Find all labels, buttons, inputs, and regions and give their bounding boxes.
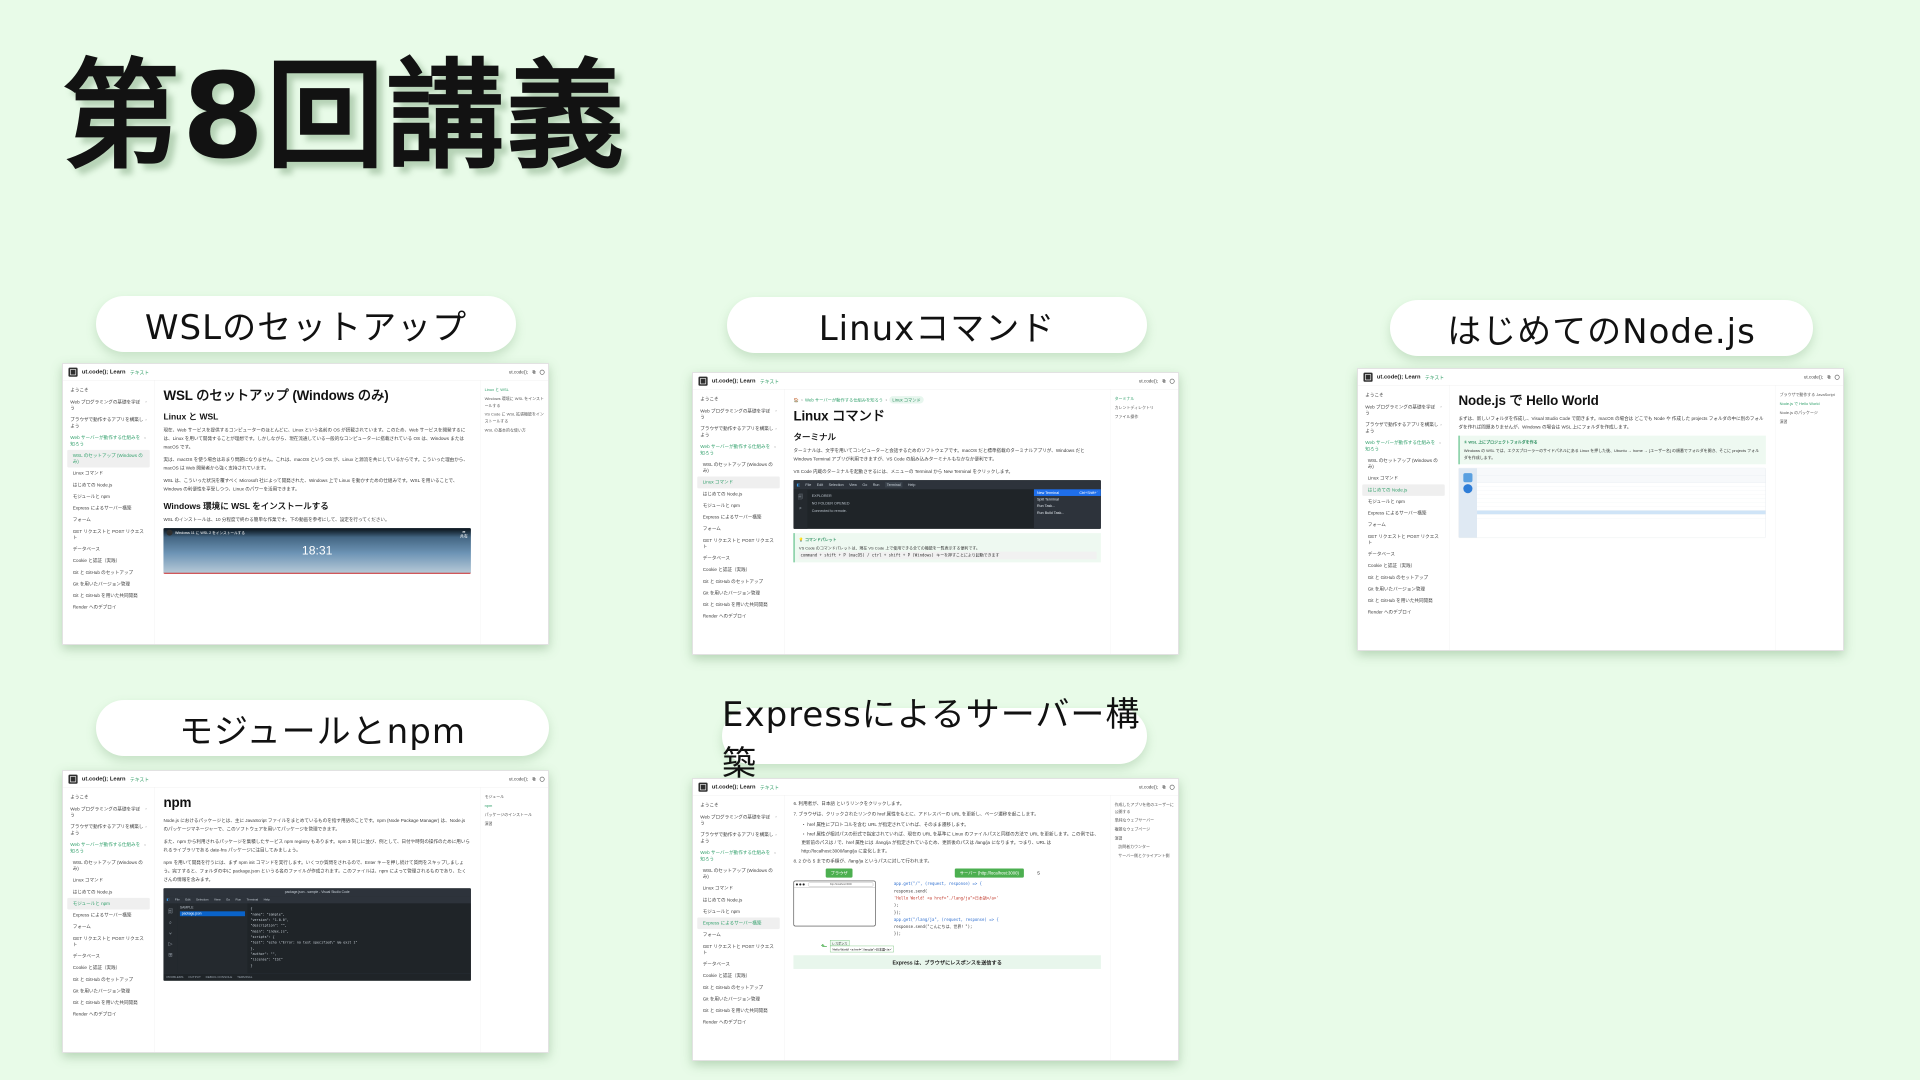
menu-item[interactable]: File — [175, 898, 180, 901]
toc-item[interactable]: Node.js のパッケージ — [1780, 410, 1841, 417]
browser-url-bar[interactable]: http://localhost:3000 — [808, 883, 873, 887]
sidebar-item-label: ブラウザで動作するアプリを構築しよう — [70, 824, 143, 836]
sidebar-item-10[interactable]: GET リクエストと POST リクエスト — [67, 526, 149, 544]
card-pill-nodejs[interactable]: はじめてのNode.js — [1390, 300, 1813, 356]
menu-item-terminal[interactable]: Terminal — [885, 482, 902, 487]
nav-link-text[interactable]: テキスト — [130, 775, 149, 782]
table-of-contents: モジュール npm パッケージのインストール 演習 — [480, 787, 549, 1053]
sidebar-item-3[interactable]: Web サーバーが動作する仕組みを知ろう⌄ — [67, 432, 149, 450]
chevron-right-icon: › — [775, 814, 776, 826]
sidebar-item-2[interactable]: ブラウザで動作するアプリを構築しよう› — [697, 829, 779, 847]
external-link-icon[interactable]: ⧉ — [532, 776, 535, 781]
sidebar-item-3[interactable]: Web サーバーが動作する仕組みを知ろう⌄ — [1362, 437, 1444, 455]
toc-item[interactable]: 複雑なウェブページ — [1115, 826, 1176, 833]
browser-window-mock: http://localhost:3000 — [793, 881, 875, 927]
menu-split-terminal[interactable]: Split Terminal — [1034, 496, 1101, 503]
sidebar-item-14[interactable]: Git を用いたバージョン管理 — [697, 588, 779, 600]
sidebar-item-12[interactable]: Cookie と認証（実践） — [697, 970, 779, 982]
external-link-icon[interactable]: ⧉ — [532, 369, 535, 374]
app-icon — [1463, 473, 1472, 482]
sidebar-item-label: Web プログラミングの基礎を学ぼう — [700, 408, 773, 420]
menu-item[interactable]: Help — [908, 483, 916, 487]
menu-item[interactable]: Go — [226, 898, 230, 901]
sidebar-item-0[interactable]: ようこそ — [67, 792, 149, 804]
vscode-window-title: package.json - sample - Visual Studio Co… — [163, 888, 470, 896]
sidebar-item-label: Web サーバーが動作する仕組みを知ろう — [700, 850, 771, 862]
doc-paragraph: 現在、Web サービスを提供するコンピューターのほとんどに、Linux という名… — [163, 426, 470, 451]
doc-content: Node.js で Hello World まずは、新しいフォルダを作成し、Vi… — [1449, 385, 1775, 651]
sidebar-item-16[interactable]: Render へのデプロイ — [697, 611, 779, 623]
sidebar-item-9[interactable]: フォーム — [67, 514, 149, 526]
chevron-right-icon: › — [145, 399, 146, 411]
code-line: app.get("/", (request, response) => { — [894, 881, 1101, 888]
video-embed[interactable]: Windows 11 に WSL 2 をインストールする ➦共有 18:31 — [163, 528, 470, 574]
chevron-right-icon: › — [145, 806, 146, 818]
sidebar-item-label: ようこそ — [700, 802, 718, 808]
doc-content: 6. 利用者が、日本語 というリンクをクリックします。 7. ブラウザは、クリッ… — [784, 795, 1110, 1061]
menu-new-terminal[interactable]: New TerminalCtrl+Shift+` — [1034, 489, 1101, 496]
doc-heading-2: Linux と WSL — [163, 410, 470, 422]
sidebar-item-8[interactable]: Express によるサーバー構築 — [67, 910, 149, 922]
toc-item[interactable]: パッケージのインストール — [485, 812, 546, 819]
terminal-menu-dropdown[interactable]: New TerminalCtrl+Shift+` Split Terminal … — [1034, 489, 1101, 529]
chevron-down-icon: ⌄ — [143, 842, 146, 854]
video-timestamp: 18:31 — [163, 544, 470, 558]
menu-item[interactable]: Selection — [196, 898, 209, 901]
top-right-label: ut.code(); — [509, 776, 528, 781]
sidebar-item-14[interactable]: Git を用いたバージョン管理 — [67, 579, 149, 591]
sidebar-item-label: Git と GitHub を用いた共同開発 — [73, 593, 138, 599]
chevron-down-icon: ⌄ — [143, 435, 146, 447]
sidebar-item-label: Express によるサーバー構築 — [703, 920, 762, 926]
top-right-label: ut.code(); — [1139, 378, 1158, 383]
thumbnail-card-wsl[interactable]: ut.code(); Learn テキスト ut.code(); ⧉ ようこそ … — [62, 363, 549, 645]
files-icon[interactable]: 🗐 — [163, 906, 177, 917]
sun-icon[interactable] — [1170, 785, 1175, 790]
sidebar-item-4[interactable]: WSL のセットアップ (Windows のみ) — [67, 450, 149, 468]
diagram-step-number: 5 — [1037, 871, 1040, 876]
sidebar-item-7[interactable]: モジュールと npm — [67, 898, 149, 910]
site-topbar: ut.code(); Learn テキスト ut.code(); ⧉ — [63, 364, 549, 380]
site-topbar: ut.code(); Learn テキスト ut.code(); ⧉ — [693, 373, 1179, 389]
brand-name: ut.code(); Learn — [712, 784, 756, 791]
external-link-icon[interactable]: ⧉ — [1162, 784, 1165, 789]
sidebar-item-label: Express によるサーバー構築 — [73, 505, 132, 511]
toc-item[interactable]: VS Code に WSL 拡張機能をインストールする — [485, 411, 546, 424]
sidebar-item-7[interactable]: モジュールと npm — [67, 491, 149, 503]
thumbnail-card-express[interactable]: ut.code(); Learn テキスト ut.code(); ⧉ ようこそ … — [692, 778, 1179, 1061]
explorer-row[interactable] — [1477, 514, 1766, 518]
sidebar-item-11[interactable]: データベース — [697, 553, 779, 565]
toc-item[interactable]: カレントディレクトリ — [1115, 405, 1176, 412]
video-progress-bar[interactable] — [163, 573, 470, 574]
sidebar-item-6[interactable]: はじめての Node.js — [67, 886, 149, 898]
sidebar[interactable]: ようこそ Web プログラミングの基礎を学ぼう› ブラウザで動作するアプリを構築… — [63, 380, 154, 645]
sidebar-item-7[interactable]: モジュールと npm — [1362, 496, 1444, 508]
sidebar-item-12[interactable]: Cookie と認証（実践） — [1362, 560, 1444, 572]
sidebar-item-13[interactable]: Git と GitHub のセットアップ — [697, 576, 779, 588]
sidebar-item-16[interactable]: Render へのデプロイ — [697, 1017, 779, 1029]
panel-tab[interactable]: TERMINAL — [237, 976, 252, 979]
sidebar-item-label: はじめての Node.js — [1368, 487, 1408, 493]
menu-item[interactable]: File — [805, 483, 811, 487]
page-title: 第8回講義 — [62, 52, 626, 182]
sidebar-item-label: ようこそ — [70, 387, 88, 393]
sidebar-item-label: Git を用いたバージョン管理 — [73, 581, 130, 587]
sidebar-item-13[interactable]: Git と GitHub のセットアップ — [1362, 572, 1444, 584]
sidebar-item-9[interactable]: フォーム — [1362, 519, 1444, 531]
window-dot-icon — [803, 883, 805, 885]
sidebar-item-label: Render へのデプロイ — [73, 1012, 117, 1018]
doc-list-item: 6. 利用者が、日本語 というリンクをクリックします。 — [793, 800, 1100, 808]
sidebar-item-label: ようこそ — [700, 396, 718, 402]
video-channel-avatar — [166, 530, 172, 536]
sidebar-item-2[interactable]: ブラウザで動作するアプリを構築しよう› — [1362, 419, 1444, 437]
sidebar[interactable]: ようこそ Web プログラミングの基礎を学ぼう› ブラウザで動作するアプリを構築… — [1358, 385, 1449, 651]
panel-tab[interactable]: PROBLEMS — [166, 976, 183, 979]
sidebar-item-4[interactable]: WSL のセットアップ (Windows のみ) — [697, 459, 779, 477]
sidebar-item-label: Render へのデプロイ — [703, 614, 747, 620]
sidebar-item-10[interactable]: GET リクエストと POST リクエスト — [697, 535, 779, 553]
panel-tab[interactable]: DEBUG CONSOLE — [206, 976, 233, 979]
vscode-editor[interactable]: { "name": "sample", "version": "1.0.0", … — [247, 903, 470, 973]
chevron-right-icon: › — [775, 408, 776, 420]
chevron-down-icon: ⌄ — [773, 444, 776, 456]
sidebar-item-12[interactable]: Cookie と認証（実践） — [67, 962, 149, 974]
doc-list-item: ・ href 属性にプロトコルを含む URL が指定されていれば、そのまま遷移し… — [801, 820, 1101, 828]
toc-item[interactable]: 演習 — [485, 820, 546, 827]
sidebar-item-0[interactable]: ようこそ — [1362, 390, 1444, 402]
table-of-contents: ブラウザで動作する JavaScript Node.js で Hello Wor… — [1775, 385, 1844, 651]
nav-link-text[interactable]: テキスト — [760, 783, 779, 790]
sidebar-item-4[interactable]: WSL のセットアップ (Windows のみ) — [1362, 455, 1444, 473]
sidebar-item-label: Git と GitHub のセットアップ — [73, 570, 133, 576]
toc-item[interactable]: 単純なウェブサーバー — [1115, 817, 1176, 824]
site-topbar: ut.code(); Learn テキスト ut.code(); ⧉ — [693, 779, 1179, 795]
response-body: 'Hello World! <a href="./lang/ja">日本語</a… — [830, 946, 894, 952]
toc-item[interactable]: モジュール — [485, 794, 546, 801]
thumbnail-card-nodejs[interactable]: ut.code(); Learn テキスト ut.code(); ⧉ ようこそ … — [1357, 368, 1844, 651]
sidebar-nav-list: ようこそ Web プログラミングの基礎を学ぼう› ブラウザで動作するアプリを構築… — [1358, 390, 1449, 619]
sidebar-item-label: モジュールと npm — [1368, 499, 1405, 505]
external-link-icon[interactable]: ⧉ — [1827, 374, 1830, 379]
explorer-toolbar[interactable] — [1477, 468, 1766, 475]
sidebar-item-1[interactable]: Web プログラミングの基礎を学ぼう› — [67, 803, 149, 821]
menu-item[interactable]: Selection — [829, 483, 844, 487]
express-code-block: app.get("/", (request, response) => { re… — [894, 881, 1101, 938]
toc-item[interactable]: Linux と WSL — [485, 387, 546, 394]
sidebar-item-label: Git と GitHub のセットアップ — [73, 977, 133, 983]
sidebar-item-11[interactable]: データベース — [697, 959, 779, 971]
sidebar-item-16[interactable]: Render へのデプロイ — [67, 1009, 149, 1021]
pill-label: モジュールとnpm — [179, 704, 466, 753]
sidebar-item-label: WSL のセットアップ (Windows のみ) — [703, 462, 777, 474]
card-pill-linux[interactable]: Linuxコマンド — [727, 297, 1147, 353]
sidebar-item-5[interactable]: Linux コマンド — [697, 883, 779, 895]
sidebar-item-label: フォーム — [703, 932, 721, 938]
sidebar-item-label: WSL のセットアップ (Windows のみ) — [703, 868, 777, 880]
sidebar-item-8[interactable]: Express によるサーバー構築 — [697, 512, 779, 524]
card-pill-wsl[interactable]: WSLのセットアップ — [96, 296, 516, 352]
nav-link-text[interactable]: テキスト — [130, 368, 149, 375]
explorer-file-selected[interactable]: package.json — [180, 911, 245, 916]
sidebar-item-15[interactable]: Git と GitHub を用いた共同開発 — [697, 1005, 779, 1017]
toc-item[interactable]: Node.js で Hello World — [1780, 400, 1841, 407]
source-control-icon[interactable]: ⑂ — [163, 928, 177, 939]
sidebar-item-13[interactable]: Git と GitHub のセットアップ — [67, 567, 149, 579]
sidebar-item-label: モジュールと npm — [703, 503, 740, 509]
callout-wsl-folder: ① WSL 上にプロジェクトフォルダを作る Windows の WSL では、エ… — [1458, 436, 1765, 465]
breadcrumb-current: Linux コマンド — [889, 396, 924, 403]
menu-item[interactable]: View — [849, 483, 857, 487]
sidebar-item-label: Cookie と認証（実践） — [73, 965, 120, 971]
sidebar-item-12[interactable]: Cookie と認証（実践） — [67, 555, 149, 567]
menu-item[interactable]: Go — [862, 483, 867, 487]
sidebar-item-6[interactable]: はじめての Node.js — [697, 894, 779, 906]
sun-icon[interactable] — [540, 777, 545, 782]
toc-item[interactable]: ファイル操作 — [1115, 414, 1176, 421]
extensions-icon[interactable]: ⊞ — [163, 949, 177, 960]
sun-icon[interactable] — [1170, 379, 1175, 384]
doc-heading-2: Windows 環境に WSL をインストールする — [163, 500, 470, 512]
sidebar-item-2[interactable]: ブラウザで動作するアプリを構築しよう› — [67, 821, 149, 839]
sidebar-item-10[interactable]: GET リクエストと POST リクエスト — [67, 933, 149, 951]
sidebar-item-4[interactable]: WSL のセットアップ (Windows のみ) — [67, 857, 149, 875]
toc-item[interactable]: WSL の基本的な使い方 — [485, 427, 546, 434]
sidebar-item-15[interactable]: Git と GitHub を用いた共同開発 — [697, 599, 779, 611]
nav-link-text[interactable]: テキスト — [760, 377, 779, 384]
top-right-label: ut.code(); — [1139, 784, 1158, 789]
breadcrumb[interactable]: 🏠› Web サーバーが動作する仕組みを知ろう› Linux コマンド — [793, 396, 1100, 403]
pill-label: WSLのセットアップ — [145, 300, 467, 349]
sidebar[interactable]: ようこそ Web プログラミングの基礎を学ぼう› ブラウザで動作するアプリを構築… — [693, 389, 784, 655]
doc-paragraph: ターミナルは、文字を用いてコンピューターと会話するためのソフトウェアです。mac… — [793, 446, 1100, 463]
sidebar-item-16[interactable]: Render へのデプロイ — [67, 602, 149, 614]
toc-item[interactable]: 作成したアプリを他のユーザーに公開する — [1115, 802, 1176, 815]
sidebar-item-14[interactable]: Git を用いたバージョン管理 — [697, 994, 779, 1006]
sidebar-item-2[interactable]: ブラウザで動作するアプリを構築しよう› — [67, 414, 149, 432]
search-icon[interactable]: ⌕ — [163, 917, 177, 928]
menu-run-build-task[interactable]: Run Build Task... — [1034, 509, 1101, 516]
sidebar-item-14[interactable]: Git を用いたバージョン管理 — [1362, 584, 1444, 596]
sidebar-item-label: ようこそ — [1365, 392, 1383, 398]
menu-run-task[interactable]: Run Task... — [1034, 503, 1101, 510]
sidebar-item-8[interactable]: Express によるサーバー構築 — [67, 503, 149, 515]
sidebar-item-label: Web プログラミングの基礎を学ぼう — [1365, 404, 1438, 416]
sidebar-item-11[interactable]: データベース — [67, 544, 149, 556]
sidebar-item-label: はじめての Node.js — [703, 491, 743, 497]
sidebar-item-6[interactable]: はじめての Node.js — [1362, 484, 1444, 496]
sidebar-item-9[interactable]: フォーム — [697, 929, 779, 941]
breadcrumb-item[interactable]: Web サーバーが動作する仕組みを知ろう — [805, 397, 883, 403]
menu-item[interactable]: Edit — [817, 483, 823, 487]
panel-tab[interactable]: OUTPUT — [188, 976, 201, 979]
toc-item[interactable]: Windows 環境に WSL をインストールする — [485, 396, 546, 409]
vscode-explorer-panel: SAMPLE package.json — [177, 903, 247, 973]
site-topbar: ut.code(); Learn テキスト ut.code(); ⧉ — [63, 771, 549, 787]
doc-paragraph: また、npm から利用されるパッケージを集積したサービス npm registr… — [163, 838, 470, 855]
sidebar-item-9[interactable]: フォーム — [67, 921, 149, 933]
code-line: app.get("/lang/ja", (request, response) … — [894, 916, 1101, 923]
toc-item[interactable]: ブラウザで動作する JavaScript — [1780, 392, 1841, 399]
menu-item[interactable]: Help — [264, 898, 270, 901]
sidebar-item-label: Linux コマンド — [73, 470, 103, 476]
toc-item[interactable]: 演習 — [1780, 418, 1841, 425]
sidebar-nav-list: ようこそ Web プログラミングの基礎を学ぼう› ブラウザで動作するアプリを構築… — [693, 394, 784, 623]
brand-name: ut.code(); Learn — [712, 378, 756, 385]
sidebar-item-15[interactable]: Git と GitHub を用いた共同開発 — [1362, 595, 1444, 607]
sidebar-item-label: Express によるサーバー構築 — [703, 514, 762, 520]
sidebar-item-label: フォーム — [1368, 522, 1386, 528]
sidebar-item-label: ブラウザで動作するアプリを構築しよう — [1365, 422, 1438, 434]
sidebar-nav-list: ようこそ Web プログラミングの基礎を学ぼう› ブラウザで動作するアプリを構築… — [693, 800, 784, 1029]
sun-icon[interactable] — [1835, 375, 1840, 380]
chevron-right-icon: › — [145, 824, 146, 836]
sidebar-item-6[interactable]: はじめての Node.js — [67, 479, 149, 491]
sidebar-item-11[interactable]: データベース — [67, 951, 149, 963]
sidebar-item-3[interactable]: Web サーバーが動作する仕組みを知ろう⌄ — [697, 847, 779, 865]
sidebar-item-1[interactable]: Web プログラミングの基礎を学ぼう› — [697, 811, 779, 829]
thumbnail-card-linux[interactable]: ut.code(); Learn テキスト ut.code(); ⧉ ようこそ … — [692, 372, 1179, 655]
menu-item[interactable]: Run — [873, 483, 880, 487]
explorer-header: SAMPLE — [180, 906, 245, 910]
sidebar-item-3[interactable]: Web サーバーが動作する仕組みを知ろう⌄ — [67, 839, 149, 857]
files-icon[interactable]: 🗐 — [793, 492, 807, 503]
doc-title: Linux コマンド — [793, 408, 1100, 425]
sidebar-item-7[interactable]: モジュールと npm — [697, 500, 779, 512]
vscode-screenshot: package.json - sample - Visual Studio Co… — [163, 888, 470, 981]
sidebar-item-label: GET リクエストと POST リクエスト — [73, 529, 147, 541]
sidebar-item-0[interactable]: ようこそ — [67, 385, 149, 397]
sidebar-item-14[interactable]: Git を用いたバージョン管理 — [67, 986, 149, 998]
card-pill-express[interactable]: Expressによるサーバー構築 — [722, 708, 1147, 764]
sidebar-item-label: Git と GitHub のセットアップ — [703, 579, 763, 585]
sidebar-item-10[interactable]: GET リクエストと POST リクエスト — [1362, 531, 1444, 549]
callout-command-palette: 💡 コマンドパレット VS Code のコマンドパレットは、現在 VS Code… — [793, 533, 1100, 562]
vscode-panel-tabs[interactable]: PROBLEMS OUTPUT DEBUG CONSOLE TERMINAL — [163, 974, 470, 981]
vscode-activity-bar[interactable]: 🗐⌕⑂▷⊞ — [163, 903, 177, 973]
sidebar-item-label: GET リクエストと POST リクエスト — [1368, 534, 1442, 546]
sidebar-item-1[interactable]: Web プログラミングの基礎を学ぼう› — [67, 396, 149, 414]
toc-item[interactable]: 演習 — [1115, 835, 1176, 842]
sidebar-item-13[interactable]: Git と GitHub のセットアップ — [67, 974, 149, 986]
toc-item[interactable]: ターミナル — [1115, 396, 1176, 403]
table-of-contents: 作成したアプリを他のユーザーに公開する 単純なウェブサーバー 複雑なウェブページ… — [1110, 795, 1179, 1061]
toc-item[interactable]: 訪問者カウンター — [1115, 844, 1176, 851]
edge-icon — [1463, 484, 1472, 493]
external-link-icon[interactable]: ⧉ — [1162, 378, 1165, 383]
search-icon[interactable]: ⌕ — [793, 503, 807, 514]
brand-logo-icon — [1363, 373, 1372, 382]
sidebar-item-5[interactable]: Linux コマンド — [697, 477, 779, 489]
menu-item[interactable]: Run — [236, 898, 242, 901]
sidebar-item-5[interactable]: Linux コマンド — [1362, 473, 1444, 485]
sidebar[interactable]: ようこそ Web プログラミングの基礎を学ぼう› ブラウザで動作するアプリを構築… — [63, 787, 154, 1053]
vscode-explorer-panel: EXPLORER NO FOLDER OPENED Connected to r… — [807, 489, 1033, 529]
sidebar-item-0[interactable]: ようこそ — [697, 800, 779, 812]
sidebar-item-3[interactable]: Web サーバーが動作する仕組みを知ろう⌄ — [697, 441, 779, 459]
sidebar-item-label: はじめての Node.js — [73, 889, 113, 895]
chevron-down-icon: ⌄ — [1438, 440, 1441, 452]
brand-logo-icon — [68, 775, 77, 784]
brand-logo-icon — [68, 368, 77, 377]
chevron-right-icon: › — [775, 832, 776, 844]
diagram-server-label: サーバー (http://localhost:3000) — [955, 869, 1024, 878]
sidebar-item-4[interactable]: WSL のセットアップ (Windows のみ) — [697, 865, 779, 883]
sidebar-item-8[interactable]: Express によるサーバー構築 — [1362, 508, 1444, 520]
sidebar-item-13[interactable]: Git と GitHub のセットアップ — [697, 982, 779, 994]
sidebar-item-1[interactable]: Web プログラミングの基礎を学ぼう› — [1362, 401, 1444, 419]
sidebar-item-8[interactable]: Express によるサーバー構築 — [697, 918, 779, 930]
sidebar-item-2[interactable]: ブラウザで動作するアプリを構築しよう› — [697, 423, 779, 441]
card-pill-npm[interactable]: モジュールとnpm — [96, 700, 549, 756]
explorer-addressbar[interactable] — [1477, 475, 1766, 482]
sidebar-item-1[interactable]: Web プログラミングの基礎を学ぼう› — [697, 405, 779, 423]
toc-item[interactable]: npm — [485, 802, 546, 809]
thumbnail-card-npm[interactable]: ut.code(); Learn テキスト ut.code(); ⧉ ようこそ … — [62, 770, 549, 1053]
site-topbar: ut.code(); Learn テキスト ut.code(); ⧉ — [1358, 369, 1844, 385]
sidebar-item-9[interactable]: フォーム — [697, 523, 779, 535]
sidebar-item-5[interactable]: Linux コマンド — [67, 468, 149, 480]
vscode-activity-bar[interactable]: 🗐⌕ — [793, 489, 807, 529]
sidebar-item-0[interactable]: ようこそ — [697, 394, 779, 406]
sidebar-item-label: Cookie と認証（実践） — [73, 558, 120, 564]
nav-link-text[interactable]: テキスト — [1425, 373, 1444, 380]
arrow-icon: ⬑ — [821, 942, 828, 951]
sidebar-item-5[interactable]: Linux コマンド — [67, 875, 149, 887]
sidebar-item-label: モジュールと npm — [703, 909, 740, 915]
sidebar-item-7[interactable]: モジュールと npm — [697, 906, 779, 918]
sidebar-item-label: Cookie と認証（実践） — [703, 973, 750, 979]
sidebar[interactable]: ようこそ Web プログラミングの基礎を学ぼう› ブラウザで動作するアプリを構築… — [693, 795, 784, 1061]
sidebar-item-label: Git と GitHub を用いた共同開発 — [703, 1008, 768, 1014]
sun-icon[interactable] — [540, 370, 545, 375]
doc-list-item: ・ href 属性が相対パスの形式で指定されていれば、現在の URL を基準に … — [801, 830, 1101, 855]
menu-item[interactable]: Edit — [185, 898, 190, 901]
video-share-button[interactable]: ➦共有 — [460, 530, 468, 539]
sidebar-item-label: Render へのデプロイ — [703, 1020, 747, 1026]
sidebar-item-label: Linux コマンド — [703, 885, 733, 891]
doc-paragraph: WSL は、こういった状況を覆すべく Microsoft 社によって開発された、… — [163, 477, 470, 494]
explorer-file-list — [1477, 468, 1766, 537]
menu-item[interactable]: Terminal — [247, 898, 259, 901]
sidebar-item-label: GET リクエストと POST リクエスト — [73, 936, 147, 948]
debug-icon[interactable]: ▷ — [163, 939, 177, 950]
sidebar-item-label: Web プログラミングの基礎を学ぼう — [70, 399, 143, 411]
sidebar-item-6[interactable]: はじめての Node.js — [697, 488, 779, 500]
explorer-remote-status: Connected to remote. — [812, 507, 1030, 514]
vscode-logo-icon: ◧ — [166, 898, 169, 901]
sidebar-item-label: データベース — [73, 546, 100, 552]
sidebar-item-label: Git を用いたバージョン管理 — [1368, 586, 1425, 592]
home-icon[interactable]: 🏠 — [793, 397, 798, 402]
menu-item[interactable]: View — [214, 898, 221, 901]
sidebar-item-label: Web サーバーが動作する仕組みを知ろう — [700, 444, 771, 456]
toc-item[interactable]: サーバー側とクライアント側 — [1115, 853, 1176, 860]
response-label: レスポンス — [830, 940, 849, 946]
sidebar-item-11[interactable]: データベース — [1362, 549, 1444, 561]
code-line: 'Hello World! <a href="./lang/ja">日本語</a… — [894, 895, 1101, 902]
code-line: }); — [894, 931, 1101, 938]
sidebar-item-12[interactable]: Cookie と認証（実践） — [697, 564, 779, 576]
sidebar-item-label: GET リクエストと POST リクエスト — [703, 944, 777, 956]
sidebar-item-label: Linux コマンド — [73, 877, 103, 883]
sidebar-item-15[interactable]: Git と GitHub を用いた共同開発 — [67, 997, 149, 1009]
sidebar-item-10[interactable]: GET リクエストと POST リクエスト — [697, 941, 779, 959]
sidebar-item-16[interactable]: Render へのデプロイ — [1362, 607, 1444, 619]
code-line: } — [251, 963, 468, 969]
sidebar-item-15[interactable]: Git と GitHub を用いた共同開発 — [67, 590, 149, 602]
